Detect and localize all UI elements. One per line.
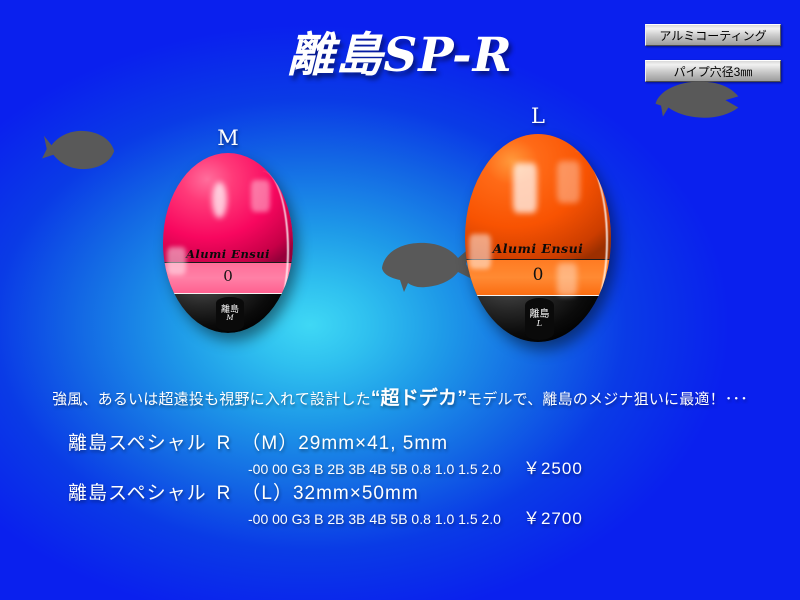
spec-m-sizes: -00 00 G3 B 2B 3B 4B 5B 0.8 1.0 1.5 2.0 [248,461,501,477]
float-m-buoyancy: 0 [163,267,293,285]
spec-l-dimensions: （L）32mm×50mm [241,483,418,504]
float-l-plate-size: L [537,320,542,328]
fish-silhouette-icon [378,236,478,296]
spec-l-sizes: -00 00 G3 B 2B 3B 4B 5B 0.8 1.0 1.5 2.0 [248,511,501,527]
spec-l-price: ￥2700 [523,509,583,528]
spec-list: 離島スペシャルR（M）29mm×41, 5mm -00 00 G3 B 2B 3… [0,428,800,528]
fish-silhouette-icon [648,78,744,124]
float-m-body: Alumi Ensui 0 離島 M [163,153,293,333]
product-page: 離島SP-R アルミコーティング パイプ穴径3㎜ M Alumi Ensui 0… [0,0,800,600]
fish-silhouette-icon [42,126,118,174]
spec-l-sub: -00 00 G3 B 2B 3B 4B 5B 0.8 1.0 1.5 2.0￥… [248,504,583,529]
spec-m-sub: -00 00 G3 B 2B 3B 4B 5B 0.8 1.0 1.5 2.0￥… [248,454,583,479]
float-m-name-plate: 離島 M [216,297,243,331]
spec-l-main: 離島スペシャルR（L）32mm×50mm [68,478,419,505]
alumi-coating-button[interactable]: アルミコーティング [645,24,781,46]
float-m: M Alumi Ensui 0 離島 M [163,126,293,334]
float-l: L Alumi Ensui 0 離島 L [465,104,611,342]
spec-row: 離島スペシャルR（M）29mm×41, 5mm -00 00 G3 B 2B 3… [0,428,800,478]
float-m-brand: Alumi Ensui [163,247,293,261]
float-m-size-letter: M [163,126,293,150]
float-l-body: Alumi Ensui 0 離島 L [465,134,611,342]
description-part2: モデルで、離島のメジナ狙いに最適！･･･ [467,391,748,408]
spec-m-series: R [217,433,232,454]
spec-m-dimensions: （M）29mm×41, 5mm [241,433,448,454]
spec-m-name: 離島スペシャル [68,433,207,454]
product-description: 強風、あるいは超遠投も視野に入れて設計した“超ドデカ”モデルで、離島のメジナ狙い… [0,383,800,410]
float-l-size-letter: L [465,104,611,128]
spec-row: 離島スペシャルR（L）32mm×50mm -00 00 G3 B 2B 3B 4… [0,478,800,528]
description-part1: 強風、あるいは超遠投も視野に入れて設計した [52,391,371,408]
pipe-hole-button-label: パイプ穴径3㎜ [674,63,753,80]
spec-m-price: ￥2500 [523,459,583,478]
spec-m-main: 離島スペシャルR（M）29mm×41, 5mm [68,428,448,455]
alumi-coating-button-label: アルミコーティング [659,27,766,44]
float-l-buoyancy: 0 [465,265,611,285]
spec-l-series: R [217,483,232,504]
description-highlight: “超ドデカ” [371,388,467,409]
spec-l-name: 離島スペシャル [68,483,207,504]
float-l-name-plate: 離島 L [525,298,554,340]
float-l-brand: Alumi Ensui [465,241,611,256]
float-m-plate-size: M [226,315,233,322]
